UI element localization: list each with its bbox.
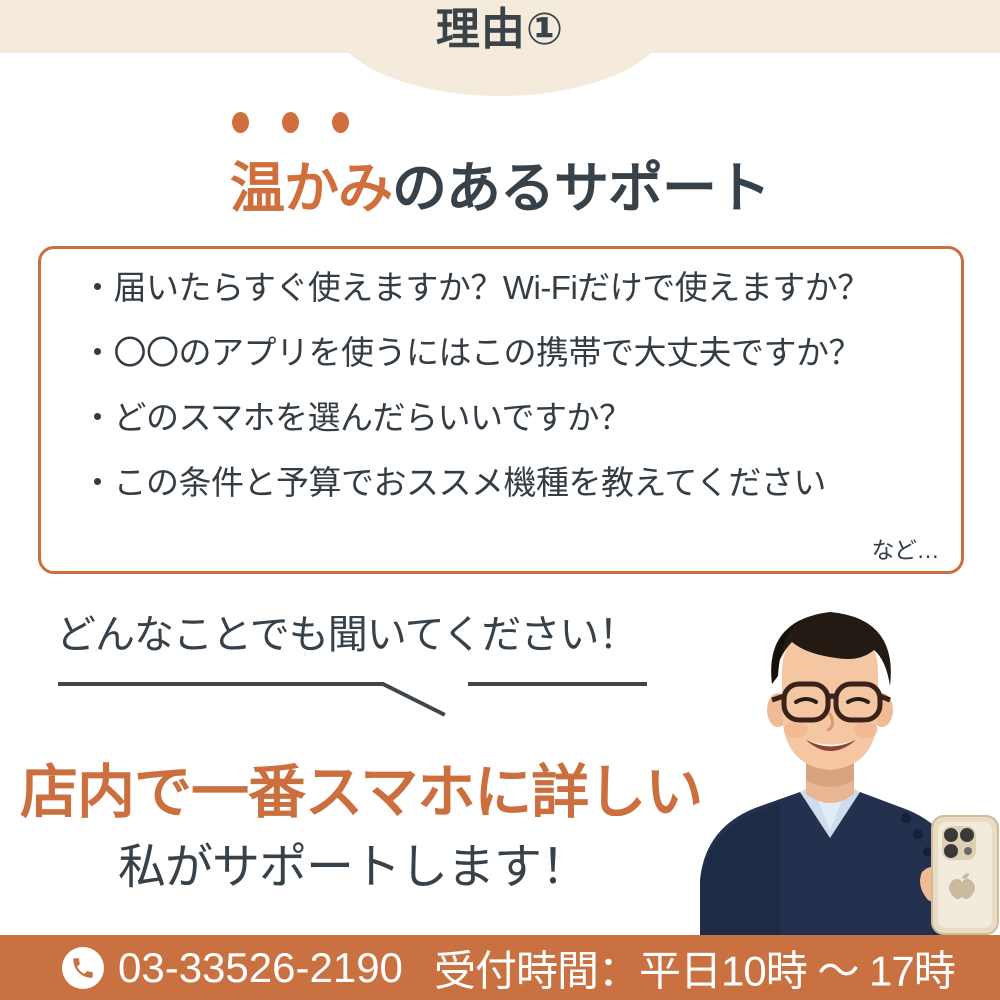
list-item: ・届いたらすぐ使えますか？Wi-Fiだけで使えますか？	[81, 271, 945, 304]
speech-bubble-rule-icon	[50, 672, 670, 720]
list-item: ・〇〇のアプリを使うにはこの携帯で大丈夫ですか？	[81, 336, 945, 369]
headline-dot-2	[282, 112, 299, 133]
staff-photo-illustration	[660, 580, 1000, 940]
page-headline: 温かみのあるサポート	[0, 143, 1000, 223]
question-box: ・届いたらすぐ使えますか？Wi-Fiだけで使えますか？ ・〇〇のアプリを使うには…	[38, 246, 964, 574]
business-hours: 受付時間：平日10時 〜 17時	[434, 937, 955, 998]
ask-anything-text: どんなことでも聞いてください！	[56, 602, 637, 660]
question-list: ・届いたらすぐ使えますか？Wi-Fiだけで使えますか？ ・〇〇のアプリを使うには…	[81, 271, 945, 499]
headline-dot-3	[332, 112, 349, 133]
phone-number[interactable]: 03-33526-2190	[118, 944, 403, 992]
banner-title: 理由①	[0, 8, 1000, 52]
claim-subheadline: 私がサポートします！	[118, 827, 588, 897]
contact-footer-bar: 03-33526-2190 受付時間：平日10時 〜 17時	[0, 935, 1000, 1000]
headline-accent: 温かみ	[230, 157, 392, 219]
list-item: ・この条件と予算でおススメ機種を教えてください	[81, 466, 945, 499]
etcetera-label: など…	[872, 531, 940, 565]
list-item: ・どのスマホを選んだらいいですか？	[81, 401, 945, 434]
staff-photo	[660, 580, 1000, 940]
phone-handset-icon	[62, 947, 104, 989]
headline-dots	[232, 112, 372, 136]
claim-headline: 店内で一番スマホに詳しい	[20, 745, 702, 829]
headline-rest: のあるサポート	[392, 157, 770, 219]
headline-dot-1	[232, 112, 249, 133]
